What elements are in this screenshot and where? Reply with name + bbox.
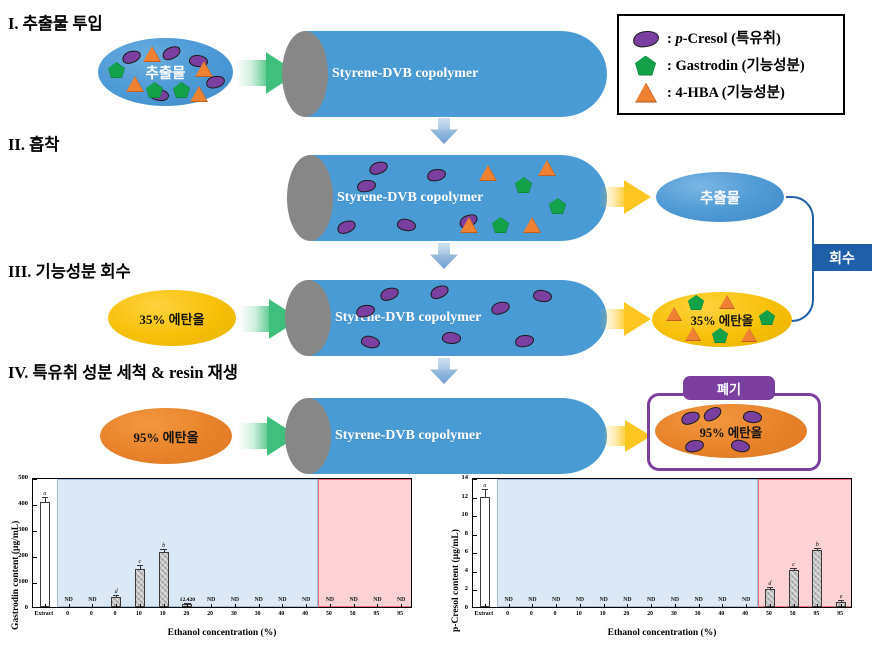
legend-label-gastrodin: : Gastrodin (기능성분) <box>667 54 805 75</box>
x-tick-mark <box>675 604 676 607</box>
error-bar <box>116 596 117 597</box>
x-tick-mark <box>722 604 723 607</box>
error-bar <box>45 498 46 502</box>
error-bar <box>794 569 795 570</box>
y-tick-mark <box>33 557 37 558</box>
chart-zone-blue <box>497 479 758 607</box>
column-label-2: Styrene-DVB copolymer <box>337 190 483 206</box>
p-cresol-x-axis-label: Ethanol concentration (%) <box>472 628 852 638</box>
bar-value-label: c <box>128 559 152 565</box>
x-tick-mark <box>45 604 46 607</box>
y-tick-label: 10 <box>446 511 468 518</box>
y-tick-label: 6 <box>446 548 468 555</box>
y-tick-label: 14 <box>446 474 468 481</box>
y-tick-mark <box>473 516 477 517</box>
y-tick-mark <box>33 531 37 532</box>
x-tick-mark <box>282 604 283 607</box>
legend-label-p-cresol: : p-Cresol (특유취) <box>667 27 781 48</box>
bar-value-label: c <box>782 562 806 568</box>
nd-label: ND <box>366 597 390 603</box>
x-tick-mark <box>509 604 510 607</box>
nd-label: ND <box>711 597 735 603</box>
nd-label: ND <box>616 597 640 603</box>
error-bar-cap <box>814 548 821 549</box>
chart-bar <box>480 497 490 607</box>
nd-label: ND <box>592 597 616 603</box>
nd-label: ND <box>199 597 223 603</box>
nd-label: ND <box>389 597 412 603</box>
error-bar-cap <box>137 565 144 566</box>
y-tick-label: 0 <box>6 604 28 611</box>
y-tick-mark <box>33 505 37 506</box>
x-tick-mark <box>604 604 605 607</box>
hba-triangle-icon <box>629 81 663 103</box>
x-tick-mark <box>556 604 557 607</box>
chart-bar <box>789 570 799 607</box>
column-label-4: Styrene-DVB copolymer <box>335 428 481 444</box>
y-tick-mark <box>33 479 37 480</box>
bar-value-label: a <box>473 483 497 489</box>
x-tick-mark <box>401 604 402 607</box>
gastrodin-pentagon-icon <box>629 54 663 76</box>
bar-value-label: b <box>806 542 830 548</box>
output-arrow-step-3 <box>599 302 651 336</box>
x-tick-mark <box>580 604 581 607</box>
ethanol-95-output-label: 95% 에탄올 <box>700 422 763 441</box>
gastrodin-y-axis-label: Gastrodin content (µg/mL) <box>11 521 21 630</box>
x-tick-mark <box>330 604 331 607</box>
p-cresol-plot-area: aNDNDNDNDNDNDNDNDNDNDNDdcbe <box>472 478 852 608</box>
extract-input-ellipse: 추출물 <box>98 38 233 106</box>
legend-label-4-hba: : 4-HBA (기능성분) <box>667 81 785 102</box>
nd-label: ND <box>544 597 568 603</box>
nd-label: ND <box>342 597 366 603</box>
error-bar-cap <box>42 497 49 498</box>
p-cresol-y-axis-label: p-Cresol content (µg/mL) <box>451 529 461 632</box>
bar-value-label: e <box>829 594 852 600</box>
x-tick-mark <box>164 604 165 607</box>
x-tick-mark <box>92 604 93 607</box>
x-tick-mark <box>354 604 355 607</box>
nd-label: ND <box>687 597 711 603</box>
chart-bar <box>40 502 50 607</box>
x-tick-mark <box>235 604 236 607</box>
x-tick-mark <box>140 604 141 607</box>
extract-input-label: 추출물 <box>145 62 185 83</box>
error-bar-cap <box>767 587 774 588</box>
y-tick-label: 200 <box>6 552 28 559</box>
error-bar <box>140 566 141 568</box>
output-arrow-step-2 <box>599 180 651 214</box>
x-tick-mark <box>699 604 700 607</box>
x-tick-mark <box>377 604 378 607</box>
y-tick-label: 300 <box>6 526 28 533</box>
error-bar <box>817 549 818 550</box>
y-tick-label: 4 <box>446 567 468 574</box>
y-tick-label: 500 <box>6 474 28 481</box>
flow-arrow-2-to-3 <box>430 243 458 269</box>
bar-value-label: d <box>758 581 782 587</box>
y-tick-mark <box>473 590 477 591</box>
x-tick-mark <box>651 604 652 607</box>
chart-zone-pink <box>318 479 412 607</box>
gastrodin-x-axis-label: Ethanol concentration (%) <box>32 628 412 638</box>
figure-canvas: : p-Cresol (특유취) : Gastrodin (기능성분) : 4-… <box>0 0 887 670</box>
x-tick-mark <box>532 604 533 607</box>
error-bar <box>485 490 486 497</box>
nd-label: ND <box>568 597 592 603</box>
step-heading-2: II. 흡착 <box>8 131 59 155</box>
discard-badge: 폐기 <box>683 376 775 400</box>
error-bar-cap <box>113 595 120 596</box>
y-tick-mark <box>473 498 477 499</box>
y-tick-label: 0 <box>446 604 468 611</box>
x-tick-mark <box>770 604 771 607</box>
bar-value-label: 12.420 <box>176 597 200 603</box>
step-heading-1: I. 추출물 투입 <box>8 10 103 34</box>
p-cresol-chart: p-Cresol content (µg/mL) aNDNDNDNDNDNDND… <box>440 470 860 670</box>
y-tick-label: 8 <box>446 530 468 537</box>
y-tick-label: 400 <box>6 500 28 507</box>
extract-output-label: 추출물 <box>700 187 740 208</box>
nd-label: ND <box>734 597 758 603</box>
y-tick-mark <box>473 479 477 480</box>
ethanol-35-output-ellipse: 35% 에탄올 <box>652 292 792 347</box>
y-tick-label: 2 <box>446 585 468 592</box>
bar-value-label: a <box>33 491 57 497</box>
nd-label: ND <box>639 597 663 603</box>
flow-arrow-3-to-4 <box>430 358 458 384</box>
error-bar-cap <box>160 549 167 550</box>
x-tick-label: 95 <box>824 611 856 617</box>
nd-label: ND <box>318 597 342 603</box>
nd-label: ND <box>271 597 295 603</box>
chart-bar <box>159 552 169 607</box>
ethanol-35-input-ellipse: 35% 에탄올 <box>108 290 236 346</box>
error-bar-cap <box>790 568 797 569</box>
ethanol-95-input-ellipse: 95% 에탄올 <box>100 408 232 464</box>
ethanol-35-output-label: 35% 에탄올 <box>691 310 754 329</box>
ethanol-95-output-ellipse: 95% 에탄올 <box>655 404 807 458</box>
gastrodin-chart: Gastrodin content (µg/mL) aNDNDdcb12.420… <box>0 470 420 670</box>
p-cresol-blob-icon <box>629 27 663 49</box>
x-tick-mark <box>259 604 260 607</box>
output-arrow-step-4 <box>601 420 651 452</box>
legend-box: : p-Cresol (특유취) : Gastrodin (기능성분) : 4-… <box>617 14 845 115</box>
error-bar <box>770 588 771 589</box>
y-tick-mark <box>473 553 477 554</box>
nd-label: ND <box>247 597 271 603</box>
bar-value-label: b <box>152 543 176 549</box>
error-bar <box>164 550 165 552</box>
x-tick-mark <box>211 604 212 607</box>
step-heading-3: III. 기능성분 회수 <box>8 258 131 282</box>
legend-item-4-hba: : 4-HBA (기능성분) <box>629 78 843 105</box>
nd-label: ND <box>81 597 105 603</box>
nd-label: ND <box>521 597 545 603</box>
resin-column-step-3: Styrene-DVB copolymer <box>285 280 607 356</box>
y-tick-mark <box>33 583 37 584</box>
error-bar-cap <box>838 600 845 601</box>
nd-label: ND <box>663 597 687 603</box>
column-label-1: Styrene-DVB copolymer <box>332 66 478 82</box>
ethanol-35-input-label: 35% 에탄올 <box>139 309 204 328</box>
nd-label: ND <box>497 597 521 603</box>
x-tick-mark <box>187 604 188 607</box>
nd-label: ND <box>57 597 81 603</box>
nd-label: ND <box>294 597 318 603</box>
x-tick-mark <box>794 604 795 607</box>
x-tick-mark <box>841 604 842 607</box>
gastrodin-plot-area: aNDNDdcb12.420NDNDNDNDNDNDNDNDND <box>32 478 412 608</box>
y-tick-label: 12 <box>446 493 468 500</box>
y-tick-mark <box>473 572 477 573</box>
x-tick-label: 95 <box>384 611 416 617</box>
chart-bar <box>812 550 822 607</box>
x-tick-mark <box>485 604 486 607</box>
x-tick-mark <box>116 604 117 607</box>
x-tick-mark <box>817 604 818 607</box>
extract-output-ellipse: 추출물 <box>656 172 784 222</box>
resin-column-step-1: Styrene-DVB copolymer <box>282 31 607 117</box>
x-tick-mark <box>306 604 307 607</box>
error-bar <box>841 601 842 602</box>
chart-zone-blue <box>57 479 318 607</box>
chart-bar <box>135 569 145 607</box>
x-tick-mark <box>627 604 628 607</box>
resin-column-step-2: Styrene-DVB copolymer <box>287 155 607 241</box>
error-bar-cap <box>482 489 489 490</box>
recovery-bracket <box>786 196 812 318</box>
ethanol-95-input-label: 95% 에탄올 <box>133 427 198 446</box>
y-tick-mark <box>473 535 477 536</box>
recovery-badge: 회수 <box>812 244 872 271</box>
resin-column-step-4: Styrene-DVB copolymer <box>285 398 607 474</box>
legend-item-p-cresol: : p-Cresol (특유취) <box>629 24 843 51</box>
nd-label: ND <box>223 597 247 603</box>
flow-arrow-1-to-2 <box>430 118 458 144</box>
bar-value-label: d <box>104 589 128 595</box>
y-tick-label: 100 <box>6 578 28 585</box>
step-heading-4: IV. 특유취 성분 세척 & resin 재생 <box>8 359 238 383</box>
x-tick-mark <box>69 604 70 607</box>
legend-item-gastrodin: : Gastrodin (기능성분) <box>629 51 843 78</box>
x-tick-mark <box>746 604 747 607</box>
